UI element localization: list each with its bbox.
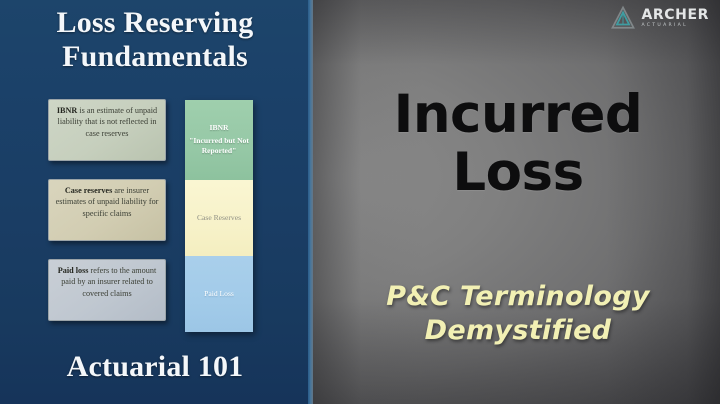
stack-block-paid-loss: Paid Loss <box>185 256 253 332</box>
stack-block-case-reserves-caption: Case Reserves <box>197 213 241 222</box>
subtitle-line1: P&C Terminology <box>386 281 650 312</box>
main-title-line1: Incurred <box>394 84 643 145</box>
slide-title-line1: Loss Reserving <box>0 6 310 40</box>
stack-block-ibnr-caption: "Incurred but Not Reported" <box>189 136 249 156</box>
stack-block-ibnr-title: IBNR <box>188 123 250 134</box>
slide-title-line2: Fundamentals <box>0 40 310 74</box>
logo-name: ARCHER <box>641 8 709 22</box>
definition-box-ibnr: IBNR is an estimate of unpaid liability … <box>48 99 166 161</box>
main-title-line2: Loss <box>452 142 583 203</box>
definition-term-ibnr: IBNR <box>57 106 77 115</box>
main-title: Incurred Loss <box>320 86 716 202</box>
stack-block-case-reserves: Case Reserves <box>185 180 253 256</box>
stack-block-paid-loss-caption: Paid Loss <box>204 289 234 298</box>
definition-box-case-reserves: Case reserves are insurer estimates of u… <box>48 179 166 241</box>
logo-text-group: ARCHER ACTUARIAL <box>641 8 709 29</box>
loss-stack-diagram: IBNR "Incurred but Not Reported" Case Re… <box>185 100 253 332</box>
video-frame: Loss Reserving Fundamentals IBNR is an e… <box>0 0 720 404</box>
archer-actuarial-logo: ARCHER ACTUARIAL <box>610 5 709 31</box>
subtitle-line2: Demystified <box>425 315 612 346</box>
definition-term-paid-loss: Paid loss <box>58 266 89 275</box>
subtitle: P&C Terminology Demystified <box>320 280 716 348</box>
definition-box-paid-loss: Paid loss refers to the amount paid by a… <box>48 259 166 321</box>
logo-tagline: ACTUARIAL <box>641 24 709 29</box>
series-name: Actuarial 101 <box>0 350 310 384</box>
definition-term-case-reserves: Case reserves <box>65 186 112 195</box>
stack-block-ibnr: IBNR "Incurred but Not Reported" <box>185 100 253 180</box>
archer-triangle-icon <box>610 5 636 31</box>
